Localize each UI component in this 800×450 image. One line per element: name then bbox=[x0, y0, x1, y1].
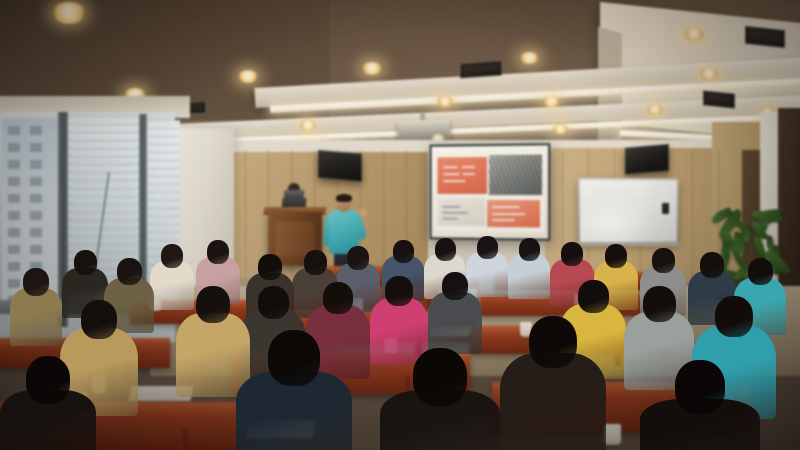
person-head bbox=[605, 244, 627, 268]
exterior-window-pane bbox=[30, 177, 42, 186]
recessed-downlight-icon bbox=[300, 120, 316, 131]
exterior-window-pane bbox=[30, 143, 42, 152]
projection-screen bbox=[432, 145, 549, 238]
recessed-downlight-icon bbox=[700, 68, 718, 80]
exterior-window-pane bbox=[8, 143, 20, 152]
person-head bbox=[81, 300, 117, 339]
person-head bbox=[578, 280, 609, 313]
wall-speaker-left bbox=[318, 150, 362, 182]
audience-member bbox=[380, 348, 500, 450]
person-head bbox=[700, 252, 724, 278]
vertical-blind bbox=[146, 200, 180, 201]
vertical-blind bbox=[68, 148, 142, 149]
vertical-blind bbox=[146, 224, 180, 225]
vertical-blind bbox=[146, 240, 180, 241]
vertical-blind bbox=[146, 160, 180, 161]
person-head bbox=[26, 356, 70, 404]
paper-cup bbox=[604, 424, 621, 445]
exterior-window-pane bbox=[8, 194, 20, 203]
vertical-blind bbox=[146, 128, 180, 129]
person-head bbox=[74, 250, 97, 275]
presenter-hair bbox=[336, 194, 352, 202]
slide-photo-collage bbox=[489, 155, 542, 196]
recessed-downlight-icon bbox=[238, 70, 258, 83]
exterior-window-pane bbox=[30, 211, 42, 220]
person-head bbox=[258, 254, 282, 280]
person-head bbox=[442, 272, 468, 300]
person-head bbox=[347, 246, 369, 270]
exterior-window-pane bbox=[8, 177, 20, 186]
recessed-downlight-icon bbox=[647, 104, 663, 115]
audience-member bbox=[508, 238, 550, 296]
recessed-downlight-icon bbox=[437, 96, 453, 107]
vertical-blind bbox=[68, 180, 142, 181]
slide-orange-panel-top bbox=[438, 157, 487, 194]
vertical-blind bbox=[146, 120, 180, 121]
vertical-blind bbox=[146, 216, 180, 217]
person-head bbox=[435, 238, 456, 261]
person-head bbox=[207, 240, 229, 264]
recessed-downlight-icon bbox=[684, 28, 704, 41]
exterior-window-pane bbox=[30, 126, 42, 135]
whiteboard-marker-icon bbox=[662, 203, 669, 214]
vertical-blind bbox=[146, 152, 180, 153]
person-head bbox=[304, 250, 327, 275]
person-head bbox=[561, 242, 583, 266]
vertical-blind bbox=[146, 184, 180, 185]
person-head bbox=[323, 282, 353, 314]
person-head bbox=[196, 286, 230, 323]
exterior-window-pane bbox=[8, 160, 20, 169]
audience-member bbox=[428, 272, 482, 350]
person-head bbox=[477, 236, 498, 259]
slide-light-panel bbox=[438, 198, 485, 225]
exterior-window-pane bbox=[8, 126, 20, 135]
air-vent-grille bbox=[460, 61, 502, 79]
exterior-window-pane bbox=[30, 228, 42, 237]
vertical-blind bbox=[68, 228, 142, 229]
recessed-downlight-icon bbox=[543, 96, 560, 107]
audience-member bbox=[236, 330, 352, 450]
person-head bbox=[748, 258, 773, 285]
person-head bbox=[519, 238, 540, 261]
person-head bbox=[715, 296, 753, 337]
vertical-blind bbox=[68, 172, 142, 173]
vertical-blind bbox=[146, 232, 180, 233]
wall-speaker-right bbox=[625, 144, 669, 175]
audience-member bbox=[0, 356, 96, 450]
vertical-blind bbox=[146, 168, 180, 169]
person-head bbox=[258, 286, 289, 319]
person-head bbox=[413, 348, 467, 406]
air-vent-grille bbox=[703, 90, 735, 108]
person-head bbox=[652, 248, 675, 273]
recessed-downlight-icon bbox=[362, 62, 382, 75]
vertical-blind bbox=[68, 132, 142, 133]
exterior-window-pane bbox=[8, 211, 20, 220]
vertical-blind bbox=[146, 192, 180, 193]
recessed-downlight-icon bbox=[520, 52, 539, 64]
person-head bbox=[385, 276, 413, 306]
vertical-blind bbox=[146, 208, 180, 209]
vertical-blind bbox=[68, 140, 142, 141]
person-head bbox=[643, 286, 676, 322]
vertical-blind bbox=[146, 176, 180, 177]
exterior-window-pane bbox=[30, 194, 42, 203]
vertical-blind bbox=[68, 164, 142, 165]
vertical-blind bbox=[68, 220, 142, 221]
vertical-blind bbox=[68, 124, 142, 125]
person-torso bbox=[10, 288, 62, 346]
vertical-blind bbox=[146, 136, 180, 137]
vertical-blind bbox=[68, 156, 142, 157]
person-torso bbox=[428, 292, 482, 354]
recessed-downlight-icon bbox=[553, 124, 568, 134]
audience-member bbox=[10, 268, 62, 342]
presentation-slide bbox=[435, 151, 544, 232]
vertical-blind bbox=[68, 116, 142, 117]
audience-member bbox=[640, 360, 760, 450]
person-head bbox=[117, 258, 142, 285]
vertical-blind bbox=[68, 212, 142, 213]
person-head bbox=[268, 330, 320, 386]
vertical-blind bbox=[68, 236, 142, 237]
person-head bbox=[675, 360, 725, 414]
person-head bbox=[529, 316, 577, 368]
exterior-window-pane bbox=[8, 245, 20, 254]
recessed-downlight-icon bbox=[52, 2, 86, 24]
person-head bbox=[161, 244, 183, 268]
exterior-window-pane bbox=[30, 160, 42, 169]
presenter-hand bbox=[359, 208, 367, 217]
person-head bbox=[23, 268, 49, 296]
vertical-blind bbox=[146, 144, 180, 145]
meeting-room-photo bbox=[0, 0, 800, 450]
desk-leg bbox=[180, 428, 187, 450]
vertical-blind bbox=[68, 244, 142, 245]
exterior-window-pane bbox=[30, 245, 42, 254]
audience-member bbox=[500, 316, 606, 450]
slide-orange-panel-bottom bbox=[487, 200, 540, 228]
person-head bbox=[393, 240, 414, 263]
exterior-window-pane bbox=[8, 228, 20, 237]
